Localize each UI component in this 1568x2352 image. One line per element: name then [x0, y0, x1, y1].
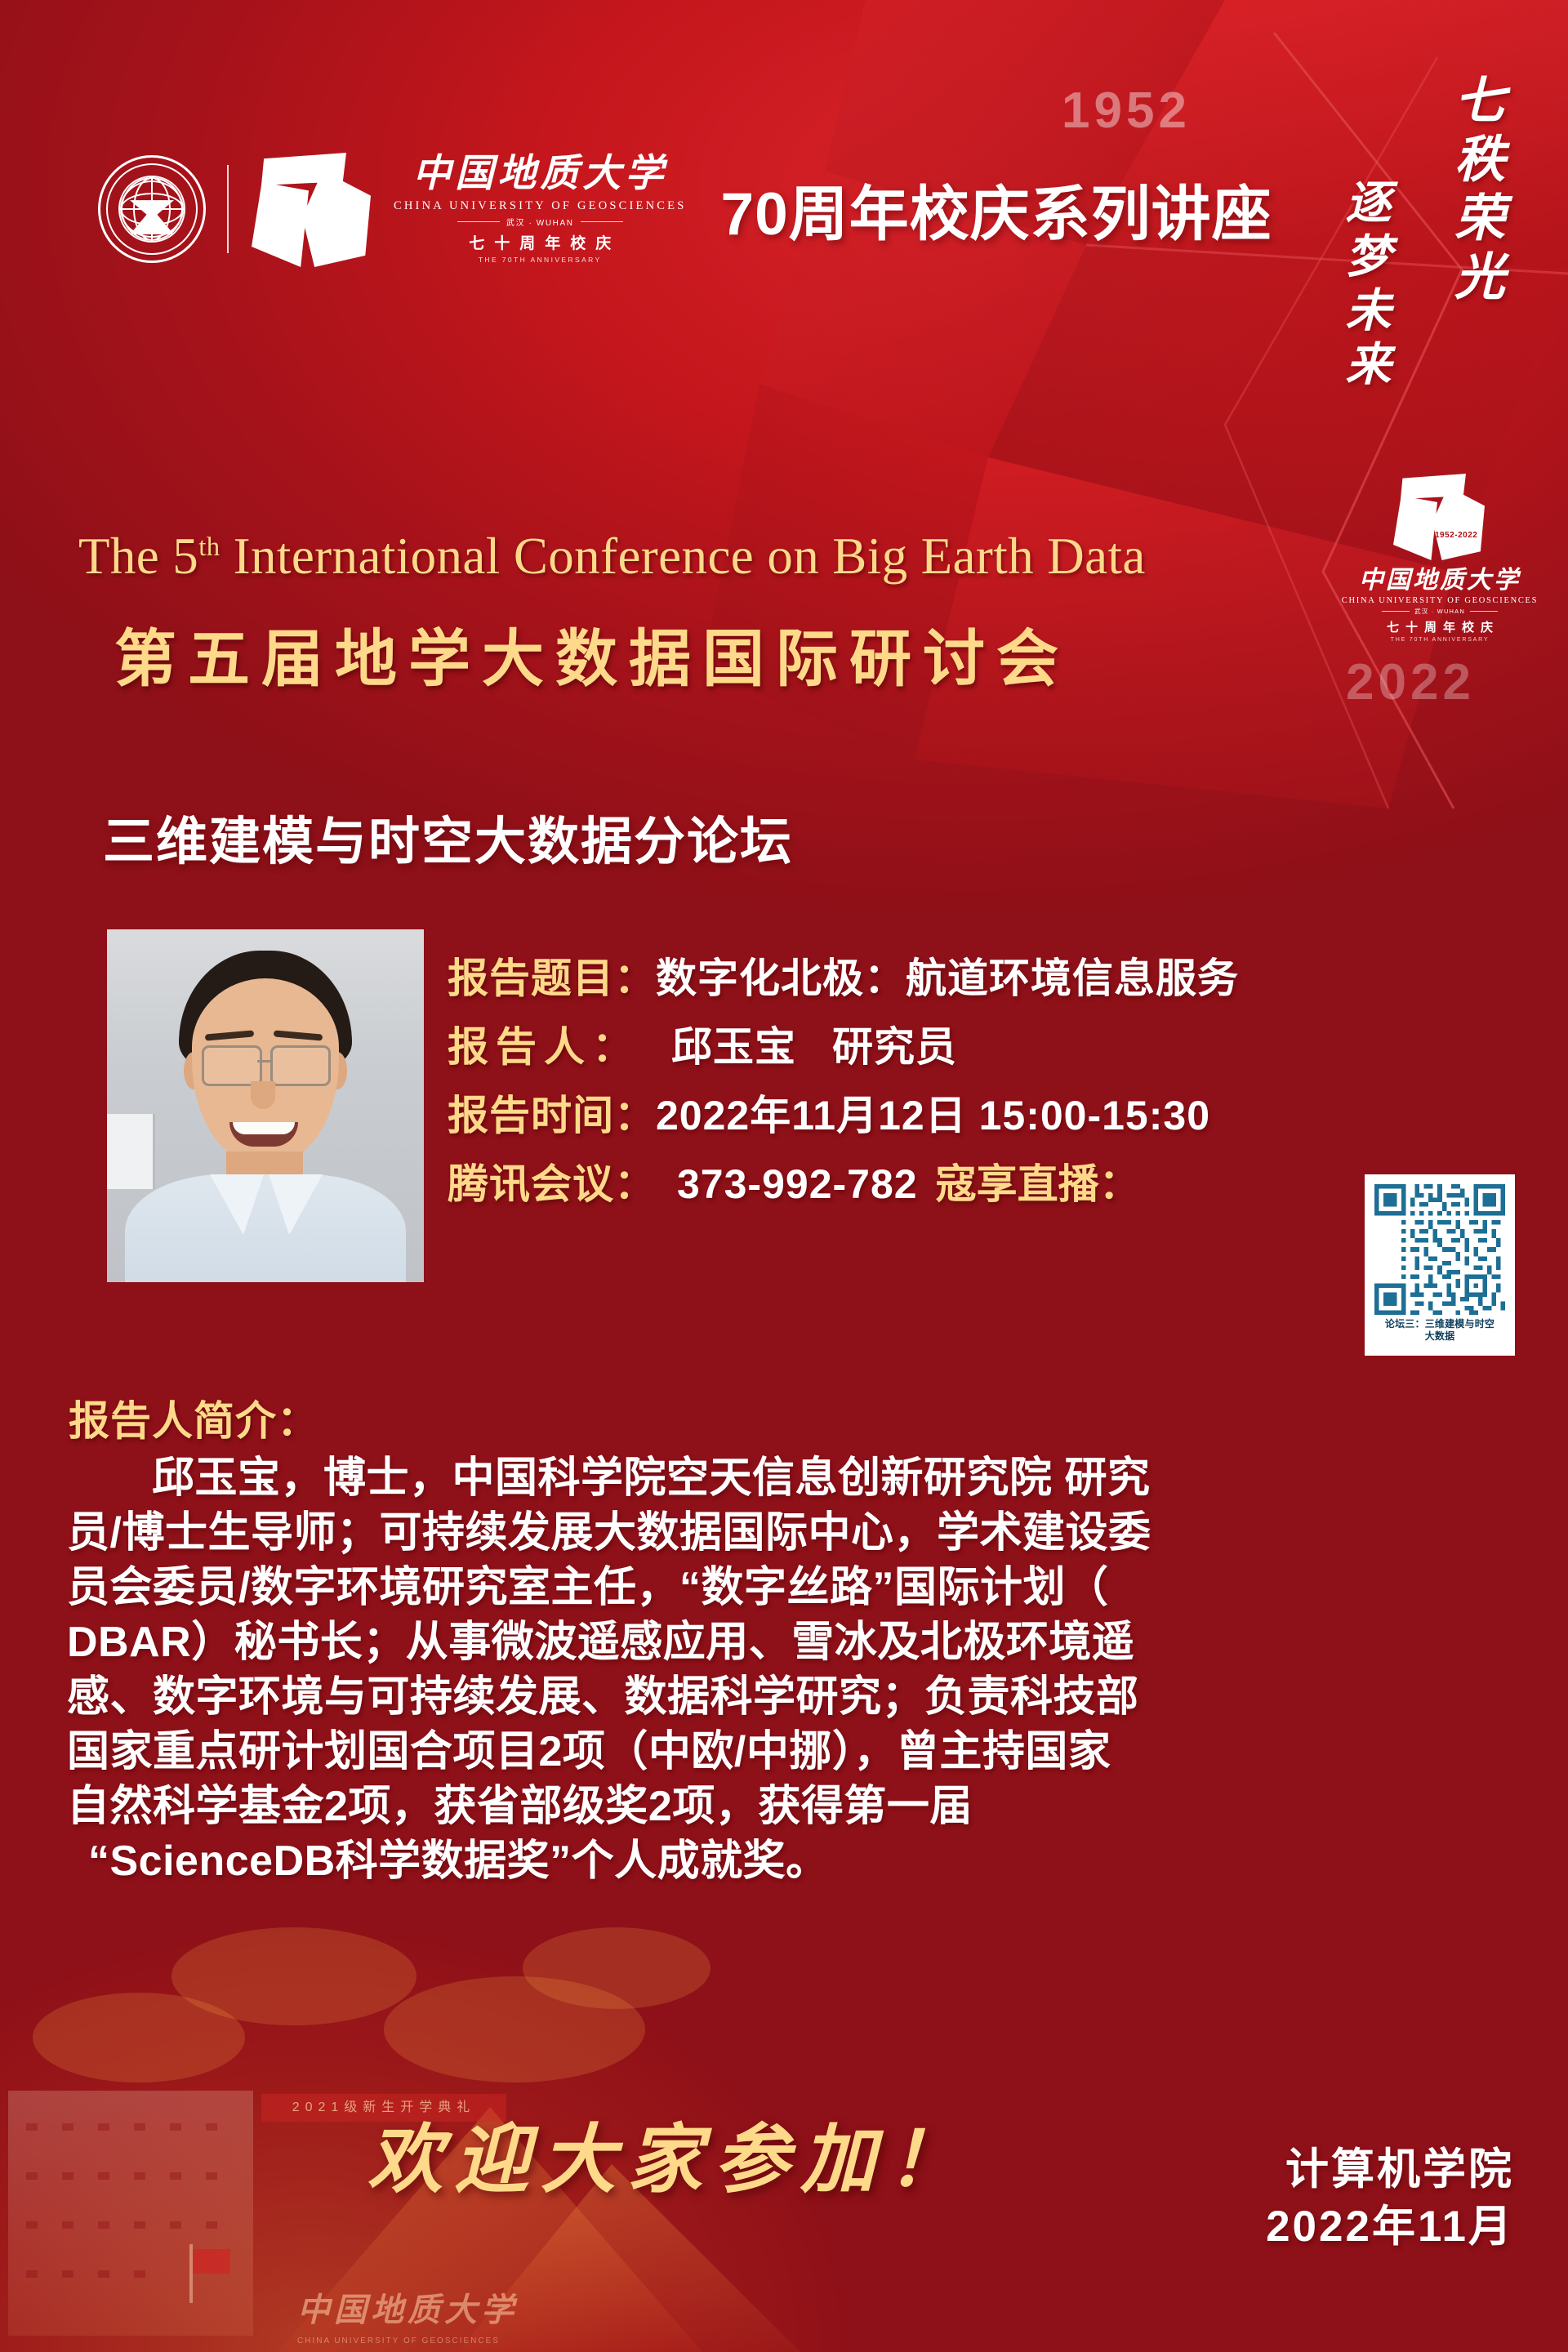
wordmark-en: CHINA UNIVERSITY OF GEOSCIENCES	[394, 199, 686, 213]
time-label: 报告时间：	[448, 1083, 656, 1142]
bio-line: DBAR）秘书长；从事微波遥感应用、雪冰及北极环境遥	[67, 1616, 1514, 1669]
forum-title: 三维建模与时空大数据分论坛	[103, 800, 793, 875]
qr-code-card[interactable]: 论坛三：三维建模与时空 大数据	[1365, 1174, 1515, 1356]
qr-caption-line1: 论坛三：三维建模与时空	[1370, 1318, 1510, 1330]
bio-line: 自然科学基金2项，获省部级奖2项，获得第一届	[67, 1780, 1514, 1833]
conf-en-pre: The 5	[78, 528, 198, 585]
right-mark-en: CHINA UNIVERSITY OF GEOSCIENCES	[1338, 596, 1542, 605]
origami-years-label: 1952-2022	[1435, 531, 1477, 540]
topic-label: 报告题目：	[448, 946, 656, 1004]
talk-details: 报告题目： 数字化北极：航道环境信息服务 报告人： 邱玉宝 研究员 报告时间： …	[448, 946, 1239, 1220]
footer-organizer-block: 计算机学院 2022年11月	[1266, 2141, 1514, 2256]
calligraphy-zhumeng-weilai: 逐梦未来	[1331, 178, 1397, 394]
live-stream-label: 寇享直播：	[936, 1151, 1140, 1210]
wordmark-rule: 武汉 · WUHAN	[394, 216, 686, 228]
speaker-label: 报告人：	[448, 1014, 640, 1073]
time-value: 2022年11月12日 15:00-15:30	[656, 1083, 1210, 1142]
detail-row-meeting: 腾讯会议： 373-992-782 寇享直播：	[448, 1151, 1239, 1210]
conference-title-cn: 第五届地学大数据国际研讨会	[114, 608, 1070, 698]
qr-caption-line2: 大数据	[1370, 1330, 1510, 1343]
bio-line: “ScienceDB科学数据奖”个人成就奖。	[67, 1835, 1514, 1888]
conf-en-ordinal: th	[198, 532, 220, 562]
topic-value: 数字化北极：航道环境信息服务	[656, 946, 1239, 1004]
bio-line: 邱玉宝，博士，中国科学院空天信息创新研究院 研究	[67, 1452, 1514, 1505]
lecture-series-title: 70周年校庆系列讲座	[720, 166, 1272, 252]
header-row: 中国地质大学 CHINA UNIVERSITY OF GEOSCIENCES 武…	[98, 151, 1272, 267]
campus-sign-en: CHINA UNIVERSITY OF GEOSCIENCES	[297, 2336, 500, 2345]
conf-en-post: International Conference on Big Earth Da…	[220, 528, 1145, 585]
bio-body: 邱玉宝，博士，中国科学院空天信息创新研究院 研究 员/博士生导师；可持续发展大数…	[67, 1452, 1514, 1890]
qr-code-icon[interactable]	[1374, 1184, 1505, 1315]
speaker-portrait	[107, 929, 424, 1282]
right-mark-rule: 武汉 · WUHAN	[1338, 607, 1542, 616]
qr-caption: 论坛三：三维建模与时空 大数据	[1370, 1318, 1510, 1343]
bio-line: 国家重点研计划国合项目2项（中欧/中挪），曾主持国家	[67, 1726, 1514, 1779]
welcome-message: 欢迎大家参加！	[367, 2099, 973, 2207]
university-wordmark: 中国地质大学 CHINA UNIVERSITY OF GEOSCIENCES 武…	[394, 154, 686, 263]
wordmark-cn: 中国地质大学	[394, 154, 686, 194]
year-1952-label: 1952	[1062, 82, 1191, 140]
origami-70-icon: 1952-2022	[1392, 472, 1487, 560]
bio-line: 员会委员/数字环境研究室主任，“数字丝路”国际计划（	[67, 1561, 1514, 1615]
wordmark-city: 武汉 · WUHAN	[506, 216, 574, 228]
detail-row-speaker: 报告人： 邱玉宝 研究员	[448, 1014, 1239, 1073]
year-2022-label: 2022	[1346, 653, 1475, 711]
right-mark-cn: 中国地质大学	[1338, 567, 1542, 594]
wordmark-anniversary-en: THE 70TH ANNIVERSARY	[394, 256, 686, 264]
campus-sign-cn: 中国地质大学	[297, 2283, 518, 2331]
calligraphy-qizhi-rongguang: 七秩荣光	[1437, 73, 1511, 309]
header-divider	[227, 165, 229, 253]
poster-root: 1952 七秩荣光 逐梦未来 1952-2022 中国地质大学 CHINA UN…	[0, 0, 1568, 2352]
right-mark-anniversary-en: THE 70TH ANNIVERSARY	[1338, 637, 1542, 643]
right-mark-anniversary-cn: 七十周年校庆	[1338, 618, 1542, 635]
speaker-title: 研究员	[832, 1014, 957, 1073]
organizer-name: 计算机学院	[1266, 2141, 1514, 2198]
bio-line: 员/博士生导师；可持续发展大数据国际中心，学术建设委	[67, 1507, 1514, 1560]
meeting-label: 腾讯会议：	[448, 1151, 656, 1210]
origami-70-large-icon	[250, 151, 376, 267]
bio-heading: 报告人简介：	[69, 1388, 318, 1447]
detail-row-topic: 报告题目： 数字化北极：航道环境信息服务	[448, 946, 1239, 1004]
detail-row-time: 报告时间： 2022年11月12日 15:00-15:30	[448, 1083, 1239, 1142]
poster-date: 2022年11月	[1266, 2198, 1514, 2256]
conference-title-en: The 5th International Conference on Big …	[78, 527, 1146, 586]
university-seal-icon	[98, 155, 206, 263]
right-anniversary-mark: 1952-2022 中国地质大学 CHINA UNIVERSITY OF GEO…	[1338, 472, 1542, 643]
speaker-name: 邱玉宝	[671, 1014, 796, 1073]
bio-line: 感、数字环境与可持续发展、数据科学研究；负责科技部	[67, 1671, 1514, 1724]
wordmark-anniversary-cn: 七十周年校庆	[394, 231, 686, 253]
right-mark-city: 武汉 · WUHAN	[1414, 607, 1465, 616]
meeting-value: 373-992-782	[677, 1160, 918, 1208]
